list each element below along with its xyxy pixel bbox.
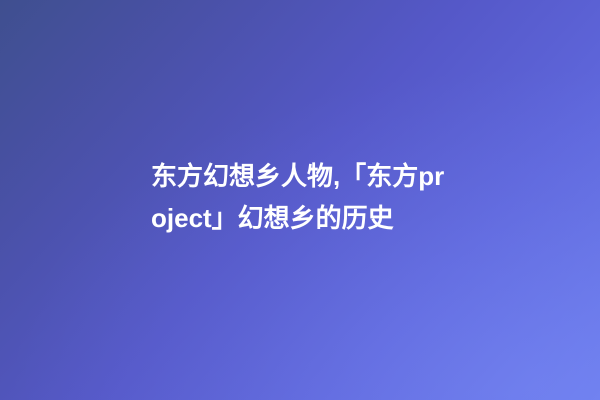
banner-title: 东方幻想乡人物,「东方project」幻想乡的历史 [151, 155, 451, 239]
banner-card: 东方幻想乡人物,「东方project」幻想乡的历史 [0, 0, 600, 400]
banner-title-block: 东方幻想乡人物,「东方project」幻想乡的历史 [151, 155, 451, 239]
